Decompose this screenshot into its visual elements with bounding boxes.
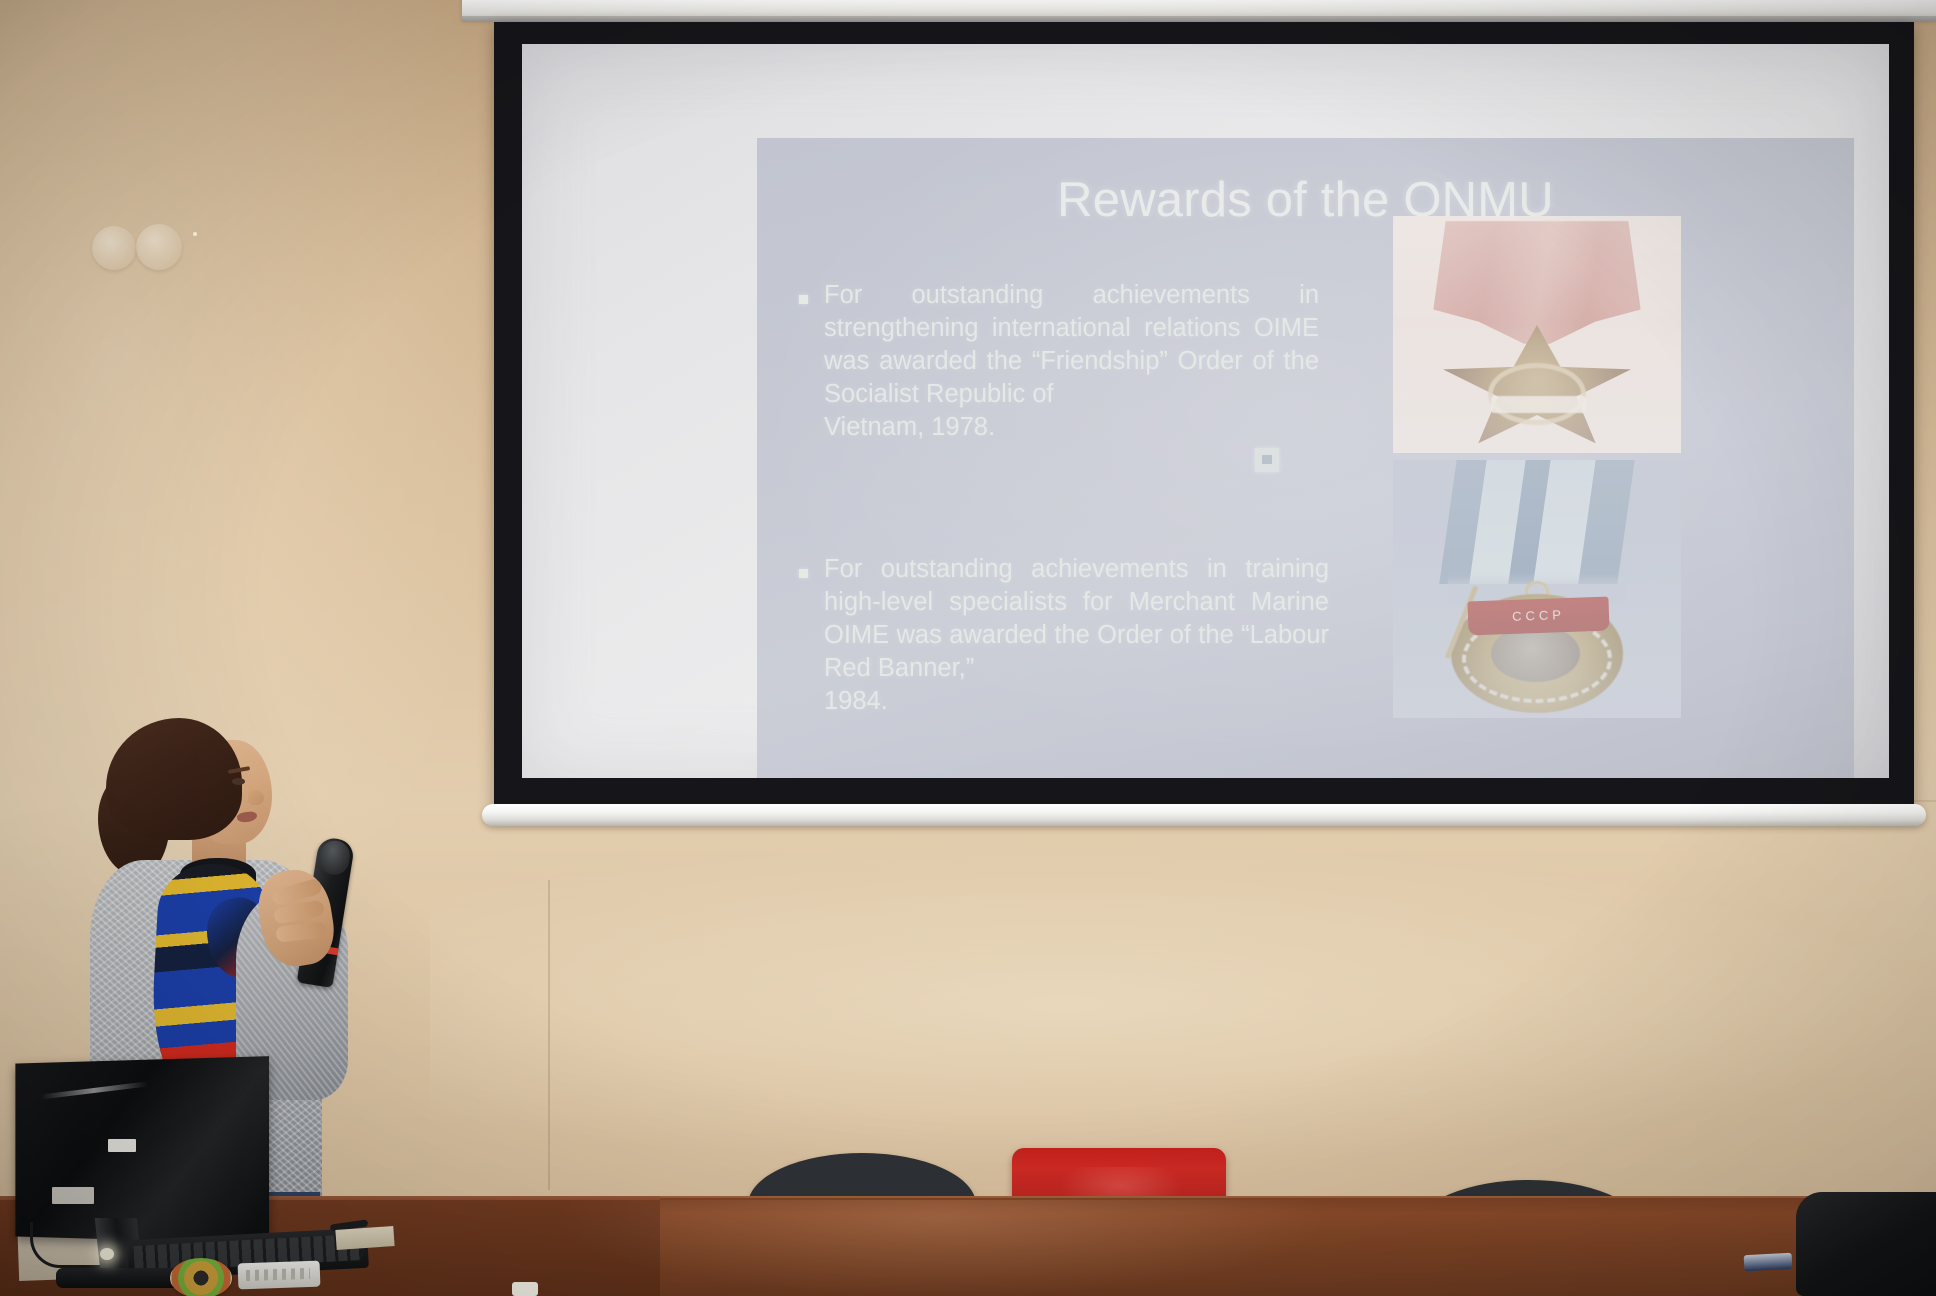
medal-ribbon-striped bbox=[1448, 460, 1627, 584]
medal-scroll bbox=[1491, 396, 1586, 413]
remote-control[interactable] bbox=[238, 1261, 321, 1290]
wall-circular-mark-right bbox=[136, 224, 182, 270]
monitor-spec-label-icon bbox=[52, 1187, 94, 1204]
wall-seam-vertical bbox=[548, 880, 550, 1190]
hair bbox=[106, 718, 242, 840]
note-card[interactable] bbox=[335, 1226, 394, 1250]
bullet-2-body: For outstanding achievements in training… bbox=[824, 555, 1329, 682]
black-bag[interactable] bbox=[1796, 1192, 1936, 1296]
monitor-cable bbox=[30, 1222, 106, 1268]
pull-down-projection-screen[interactable]: Rewards of the ONMU For outstanding achi… bbox=[462, 0, 1936, 842]
square-bullet-icon bbox=[799, 295, 808, 304]
medal-wreath bbox=[1488, 363, 1586, 425]
mobile-phone[interactable] bbox=[1744, 1253, 1793, 1271]
monitor-power-led-icon bbox=[100, 1248, 114, 1260]
screen-black-border: Rewards of the ONMU For outstanding achi… bbox=[494, 22, 1914, 812]
eye bbox=[232, 778, 245, 785]
friendship-order-photo bbox=[1393, 216, 1681, 453]
small-white-object bbox=[512, 1282, 538, 1296]
projected-slide: Rewards of the ONMU For outstanding achi… bbox=[757, 138, 1854, 778]
monitor-sticker-icon bbox=[108, 1139, 136, 1152]
nose bbox=[248, 790, 264, 805]
medal-cccp-banner: CCCP bbox=[1467, 597, 1609, 635]
slide-bullet-1: For outstanding achievements in strength… bbox=[799, 279, 1319, 444]
wall-highlight-dot bbox=[193, 232, 197, 236]
screen-projection-surface: Rewards of the ONMU For outstanding achi… bbox=[522, 44, 1889, 778]
microphone-head-icon bbox=[317, 839, 352, 877]
slide-bullet-2: For outstanding achievements in training… bbox=[799, 553, 1329, 718]
bullet-2-lastline: 1984. bbox=[824, 685, 1329, 718]
bullet-1-lastline: Vietnam, 1978. bbox=[824, 411, 1319, 444]
bullet-1-body: For outstanding achievements in strength… bbox=[824, 281, 1319, 408]
image-placeholder-icon bbox=[1255, 448, 1279, 472]
labour-red-banner-order-photo: CCCP bbox=[1393, 460, 1681, 718]
optical-disc[interactable] bbox=[170, 1258, 232, 1296]
square-bullet-icon bbox=[799, 569, 808, 578]
screen-bottom-weight-bar bbox=[482, 804, 1926, 826]
slide-bullet-2-text: For outstanding achievements in training… bbox=[824, 553, 1329, 718]
slide-bullet-1-text: For outstanding achievements in strength… bbox=[824, 279, 1319, 444]
monitor-base bbox=[56, 1268, 186, 1288]
wall-light-sheen-lower bbox=[430, 840, 1936, 1170]
slide-title: Rewards of the ONMU bbox=[757, 172, 1854, 228]
wall-circular-mark-left bbox=[92, 226, 136, 270]
